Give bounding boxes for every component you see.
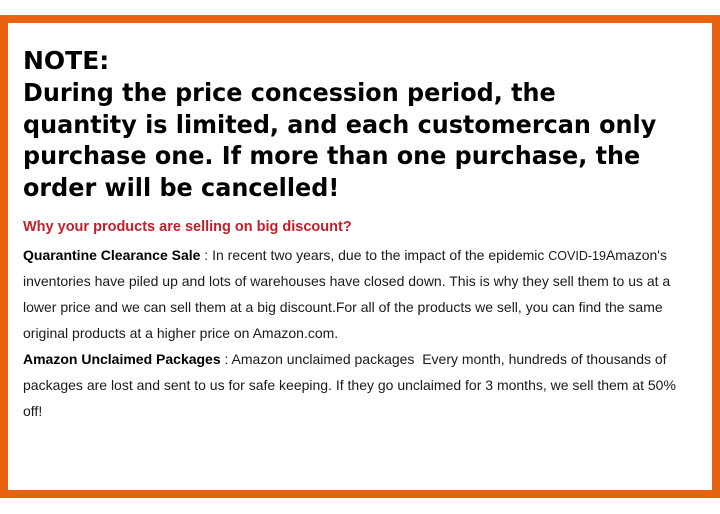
- headline-block: NOTE: During the price concession period…: [23, 45, 698, 204]
- notice-card: NOTE: During the price concession period…: [0, 15, 720, 498]
- section-amazon-unclaimed-packages: Amazon Unclaimed Packages : Amazon uncla…: [23, 346, 698, 424]
- section-label-unclaimed: Amazon Unclaimed Packages: [23, 351, 221, 367]
- section-text-quarantine-intro: In recent two years, due to the impact o…: [208, 247, 548, 263]
- covid-term: COVID-19: [548, 249, 606, 263]
- note-label: NOTE:: [23, 45, 698, 77]
- discount-question-heading: Why your products are selling on big dis…: [23, 218, 698, 237]
- section-label-quarantine: Quarantine Clearance Sale: [23, 247, 200, 263]
- notice-content-area: NOTE: During the price concession period…: [8, 23, 712, 490]
- note-headline-text: During the price concession period, the …: [23, 77, 668, 204]
- section-quarantine-clearance-sale: Quarantine Clearance Sale : In recent tw…: [23, 242, 698, 346]
